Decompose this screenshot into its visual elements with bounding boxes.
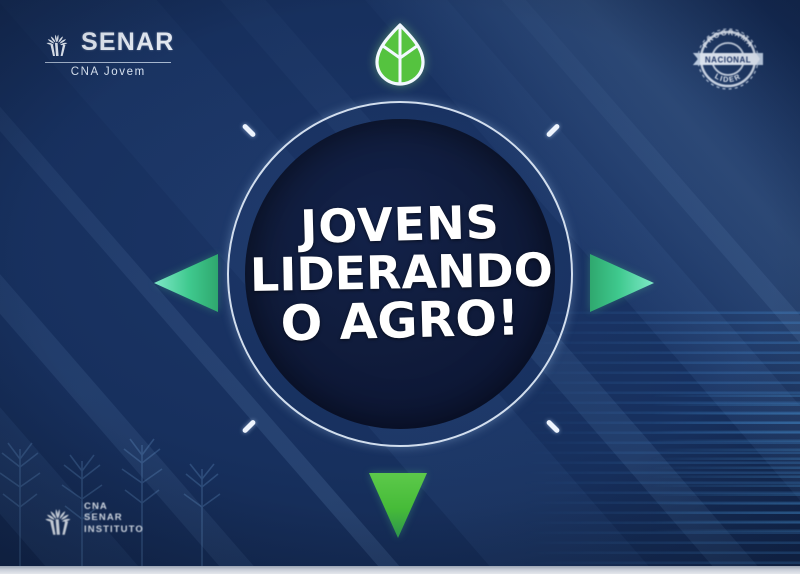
background-scanline-texture: [630, 388, 800, 538]
senar-wheat-mark-icon: [42, 27, 72, 57]
senar-logo-row: SENAR: [42, 27, 175, 57]
instituto-line-2: SENAR: [84, 512, 144, 523]
compass-tick-dash: [242, 123, 257, 138]
poster-canvas: SENAR CNA Jovem PROGRAMA LIDER NACIONAL: [0, 0, 800, 574]
senar-wordmark: SENAR: [81, 30, 175, 55]
compass-tick-dash: [242, 419, 257, 434]
leaf-icon: [372, 22, 428, 88]
compass-tick-dash: [546, 123, 561, 138]
instituto-logo-text: CNA SENAR INSTITUTO: [84, 501, 144, 535]
seal-ribbon: NACIONAL: [693, 53, 763, 65]
headline-block: JOVENS LIDERANDO O AGRO!: [250, 202, 550, 345]
instituto-line-3: INSTITUTO: [84, 524, 144, 535]
seal-ribbon-text: NACIONAL: [705, 55, 751, 64]
senar-logo-subtitle: CNA Jovem: [71, 67, 146, 79]
senar-logo-divider: [45, 62, 171, 63]
arrow-down-icon: [367, 470, 429, 540]
instituto-logo[interactable]: CNA SENAR INSTITUTO: [40, 500, 144, 536]
svg-text:LIDER: LIDER: [713, 72, 742, 85]
arrow-right-icon: [588, 252, 656, 314]
senar-logo[interactable]: SENAR CNA Jovem: [42, 27, 175, 79]
compass-graphic-group: JOVENS LIDERANDO O AGRO!: [0, 0, 800, 574]
instituto-line-1: CNA: [84, 501, 144, 512]
wheat-silhouette-decoration: [0, 409, 250, 574]
circular-seal-badge[interactable]: PROGRAMA LIDER NACIONAL: [691, 22, 765, 96]
bottom-edge-strip: [0, 566, 800, 574]
compass-tick-dash: [546, 419, 561, 434]
headline-line-3: O AGRO!: [249, 294, 550, 350]
instituto-wheat-mark-icon: [40, 500, 76, 536]
arrow-left-icon: [152, 252, 220, 314]
seal-bottom-arc-text: LIDER: [713, 72, 742, 85]
